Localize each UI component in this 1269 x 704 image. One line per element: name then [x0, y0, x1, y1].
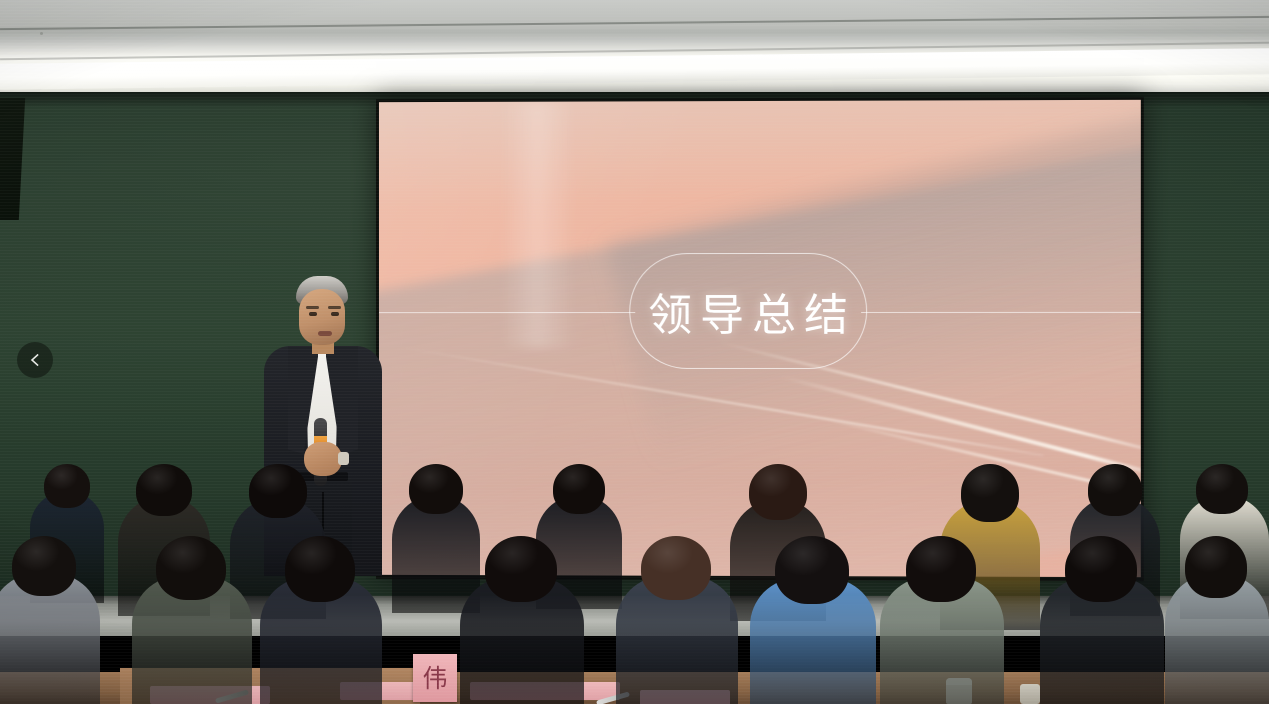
speaker-head	[299, 289, 345, 345]
name-placard: 伟	[413, 654, 457, 702]
audience-member-head	[749, 464, 807, 520]
ceiling-light-strip	[0, 48, 1269, 90]
audience-member-head	[285, 536, 355, 602]
name-placard-text: 伟	[422, 666, 447, 691]
audience-member-head	[1065, 536, 1137, 602]
audience-member-head	[641, 536, 711, 600]
audience-member-head	[775, 536, 849, 604]
slide-title: 领导总结	[640, 279, 856, 343]
audience-member-head	[1196, 464, 1248, 514]
audience-member-head	[553, 464, 605, 514]
ceiling-seam	[0, 16, 1269, 30]
slide-title-pill: 领导总结	[629, 253, 867, 369]
audience-member-head	[12, 536, 76, 596]
speaker-eyebrow	[306, 306, 319, 309]
water-bottle	[1020, 684, 1040, 704]
audience-member-head	[485, 536, 557, 602]
slide-leader-line-left	[379, 312, 635, 313]
speaker-mouth	[318, 331, 332, 336]
audience-member-head	[1185, 536, 1247, 598]
speaker-eye	[331, 312, 339, 316]
prev-image-button[interactable]	[17, 342, 53, 378]
speaker-eye	[309, 312, 317, 316]
audience-member-head	[156, 536, 226, 600]
slide-leader-line-right	[861, 312, 1141, 313]
audience-member-head	[906, 536, 976, 602]
audience-member-head	[136, 464, 192, 516]
ceiling-screw	[40, 32, 43, 35]
audience-member-head	[1088, 464, 1142, 516]
screenshot-viewport: 领导总结 伟	[0, 0, 1269, 704]
audience-member-head	[961, 464, 1019, 522]
slide-vertical-glow	[500, 102, 576, 348]
audience-member-head	[44, 464, 90, 508]
audience-member-head	[249, 464, 307, 518]
chevron-left-icon	[28, 353, 42, 367]
speaker-eyebrow	[328, 306, 341, 309]
audience-group	[0, 440, 1269, 704]
ceiling	[0, 0, 1269, 100]
audience-member-head	[409, 464, 463, 514]
